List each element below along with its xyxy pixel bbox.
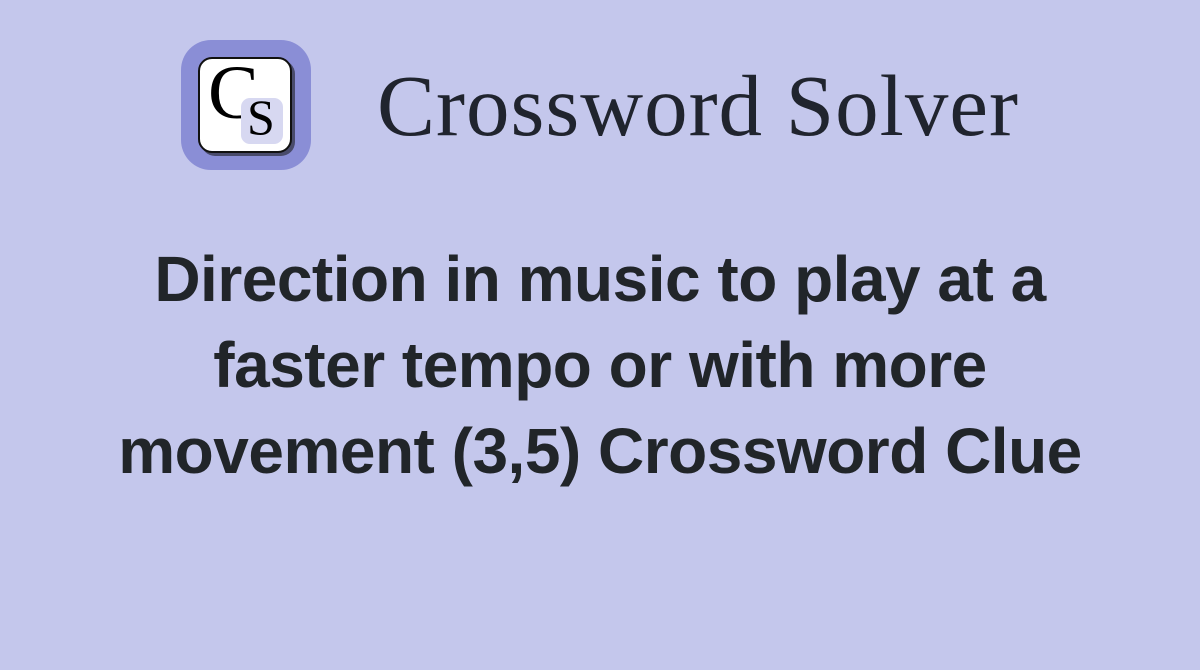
crossword-solver-logo-icon[interactable]: C S	[181, 40, 311, 170]
logo-card: C S	[198, 57, 292, 153]
page-root: C S Crossword Solver Direction in music …	[0, 0, 1200, 670]
page-title: Direction in music to play at a faster t…	[100, 236, 1100, 494]
site-header: C S Crossword Solver	[0, 30, 1200, 180]
brand-lockup[interactable]: C S Crossword Solver	[181, 40, 1019, 170]
logo-letter-s: S	[247, 92, 275, 142]
clue-block: Direction in music to play at a faster t…	[100, 236, 1100, 494]
site-title: Crossword Solver	[377, 62, 1019, 149]
clue-suffix-label: Crossword Clue	[598, 415, 1082, 487]
